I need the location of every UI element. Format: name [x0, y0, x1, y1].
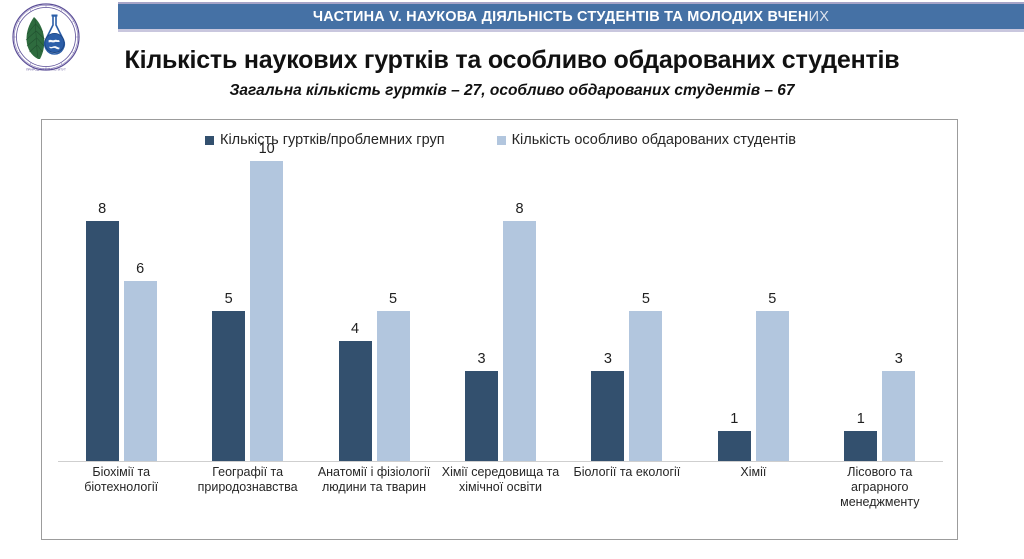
bar-series-0-cat-0[interactable] [86, 221, 119, 461]
bar-series-0-cat-5[interactable] [718, 431, 751, 461]
section-banner: ЧАСТИНА V. НАУКОВА ДІЯЛЬНІСТЬ СТУДЕНТІВ … [118, 2, 1024, 32]
chart-legend: Кількість гуртків/проблемних груп Кількі… [42, 132, 959, 148]
banner-title: ЧАСТИНА V. НАУКОВА ДІЯЛЬНІСТЬ СТУДЕНТІВ … [313, 9, 829, 25]
bar-value-series-1-cat-0: 6 [124, 261, 157, 277]
page-subtitle: Загальна кількість гуртків – 27, особлив… [0, 82, 1024, 100]
bar-series-1-cat-3[interactable] [503, 221, 536, 461]
bar-value-series-0-cat-2: 4 [339, 321, 372, 337]
bar-group: 86 [86, 161, 157, 461]
bar-series-0-cat-1[interactable] [212, 311, 245, 461]
bar-value-series-0-cat-5: 1 [718, 411, 751, 427]
banner-title-tail: ИХ [809, 9, 830, 25]
legend-item-groups[interactable]: Кількість гуртків/проблемних груп [205, 132, 445, 148]
bar-series-1-cat-0[interactable] [124, 281, 157, 461]
legend-item-gifted-students[interactable]: Кількість особливо обдарованих студентів [497, 132, 796, 148]
bar-value-series-0-cat-4: 3 [591, 351, 624, 367]
bar-series-1-cat-5[interactable] [756, 311, 789, 461]
bar-series-1-cat-4[interactable] [629, 311, 662, 461]
banner-title-main: ЧАСТИНА V. НАУКОВА ДІЯЛЬНІСТЬ СТУДЕНТІВ … [313, 9, 809, 25]
bar-value-series-1-cat-5: 5 [756, 291, 789, 307]
bar-value-series-1-cat-3: 8 [503, 201, 536, 217]
bar-group: 38 [465, 161, 536, 461]
category-label-6: Лісового тааграрногоменеджменту [817, 465, 943, 510]
bar-group: 35 [591, 161, 662, 461]
bar-group: 13 [844, 161, 915, 461]
bar-value-series-1-cat-4: 5 [629, 291, 662, 307]
bar-value-series-0-cat-1: 5 [212, 291, 245, 307]
category-label-5: Хімії [690, 465, 816, 480]
category-label-2: Анатомії і фізіологіїлюдини та тварин [311, 465, 437, 495]
bar-value-series-1-cat-1: 10 [250, 141, 283, 157]
bar-value-series-0-cat-6: 1 [844, 411, 877, 427]
legend-swatch-series-0 [205, 136, 214, 145]
chart-container: Кількість гуртків/проблемних груп Кількі… [41, 119, 958, 540]
bar-value-series-0-cat-0: 8 [86, 201, 119, 217]
x-axis-baseline [58, 461, 943, 462]
category-label-4: Біології та екології [564, 465, 690, 480]
bar-value-series-0-cat-3: 3 [465, 351, 498, 367]
legend-swatch-series-1 [497, 136, 506, 145]
bar-value-series-1-cat-2: 5 [377, 291, 410, 307]
category-label-1: Географії таприродознавства [184, 465, 310, 495]
plot-area: 865104538351513 [58, 161, 943, 462]
category-axis-labels: Біохімії табіотехнологіїГеографії таприр… [58, 465, 943, 535]
bar-group: 510 [212, 161, 283, 461]
bar-series-1-cat-2[interactable] [377, 311, 410, 461]
bar-series-0-cat-3[interactable] [465, 371, 498, 461]
legend-label-series-1: Кількість особливо обдарованих студентів [512, 132, 796, 148]
bar-group: 45 [339, 161, 410, 461]
bar-series-1-cat-6[interactable] [882, 371, 915, 461]
category-label-0: Біохімії табіотехнології [58, 465, 184, 495]
page-title: Кількість наукових гуртків та особливо о… [0, 46, 1024, 75]
bar-series-1-cat-1[interactable] [250, 161, 283, 461]
bar-series-0-cat-4[interactable] [591, 371, 624, 461]
bar-value-series-1-cat-6: 3 [882, 351, 915, 367]
bar-group: 15 [718, 161, 789, 461]
bar-series-0-cat-2[interactable] [339, 341, 372, 461]
bar-series-0-cat-6[interactable] [844, 431, 877, 461]
category-label-3: Хімії середовища тахімічної освіти [437, 465, 563, 495]
